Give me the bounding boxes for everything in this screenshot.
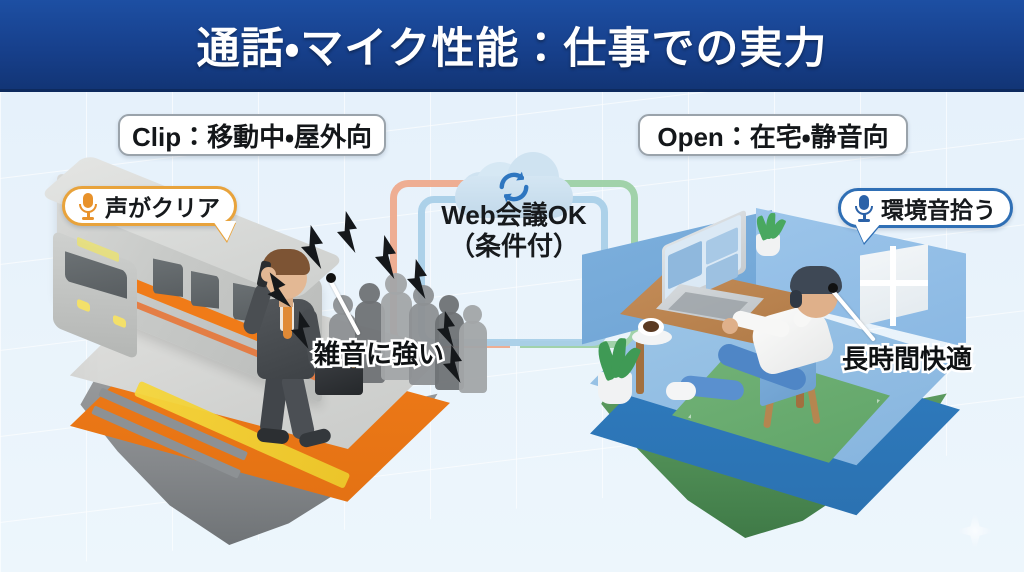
leader-anchor-dot <box>326 273 336 283</box>
hand <box>722 318 738 334</box>
callout-noise-resistant: 雑音に強い <box>314 334 444 371</box>
section-label-open: Open：在宅・静音向 <box>638 114 908 156</box>
bubble-tail <box>213 221 236 241</box>
section-label-clip: Clip：移動中・屋外向 <box>118 114 386 156</box>
speech-bubble-clear-voice: 声がクリア <box>62 186 237 226</box>
center-caption: Web会議OK （条件付） <box>404 200 624 261</box>
center-caption-line2: （条件付） <box>404 231 624 262</box>
leader-stroke <box>830 289 875 342</box>
slide-canvas: 通話・マイク性能：仕事での実力 Clip：移動中・屋外向 Open：在宅・静音向 <box>0 0 1024 572</box>
center-caption-line1: Web会議OK <box>404 200 624 231</box>
microphone-icon <box>855 195 873 221</box>
speech-bubble-clear-voice-text: 声がクリア <box>105 189 220 223</box>
leader-line-noise <box>330 278 400 340</box>
microphone-icon <box>79 193 97 219</box>
speech-bubble-ambient-noise: 環境音拾う <box>838 188 1013 228</box>
desk-leg <box>636 338 644 394</box>
shoe <box>666 382 696 400</box>
necktie <box>283 305 292 339</box>
coffee-liquid <box>643 321 659 332</box>
section-label-clip-text: Clip：移動中・屋外向 <box>132 117 372 154</box>
leader-stroke <box>328 279 361 336</box>
header-banner: 通話・マイク性能：仕事での実力 <box>0 0 1024 92</box>
leader-anchor-dot <box>828 283 838 293</box>
callout-long-comfort: 長時間快適 <box>842 339 972 376</box>
section-label-open-text: Open：在宅・静音向 <box>657 117 888 154</box>
shoe <box>256 427 289 444</box>
bubble-tail <box>855 223 881 243</box>
headphone-icon <box>790 290 802 308</box>
speech-bubble-ambient-noise-text: 環境音拾う <box>881 191 996 225</box>
page-title: 通話・マイク性能：仕事での実力 <box>197 14 828 76</box>
crowd-body <box>459 321 487 393</box>
